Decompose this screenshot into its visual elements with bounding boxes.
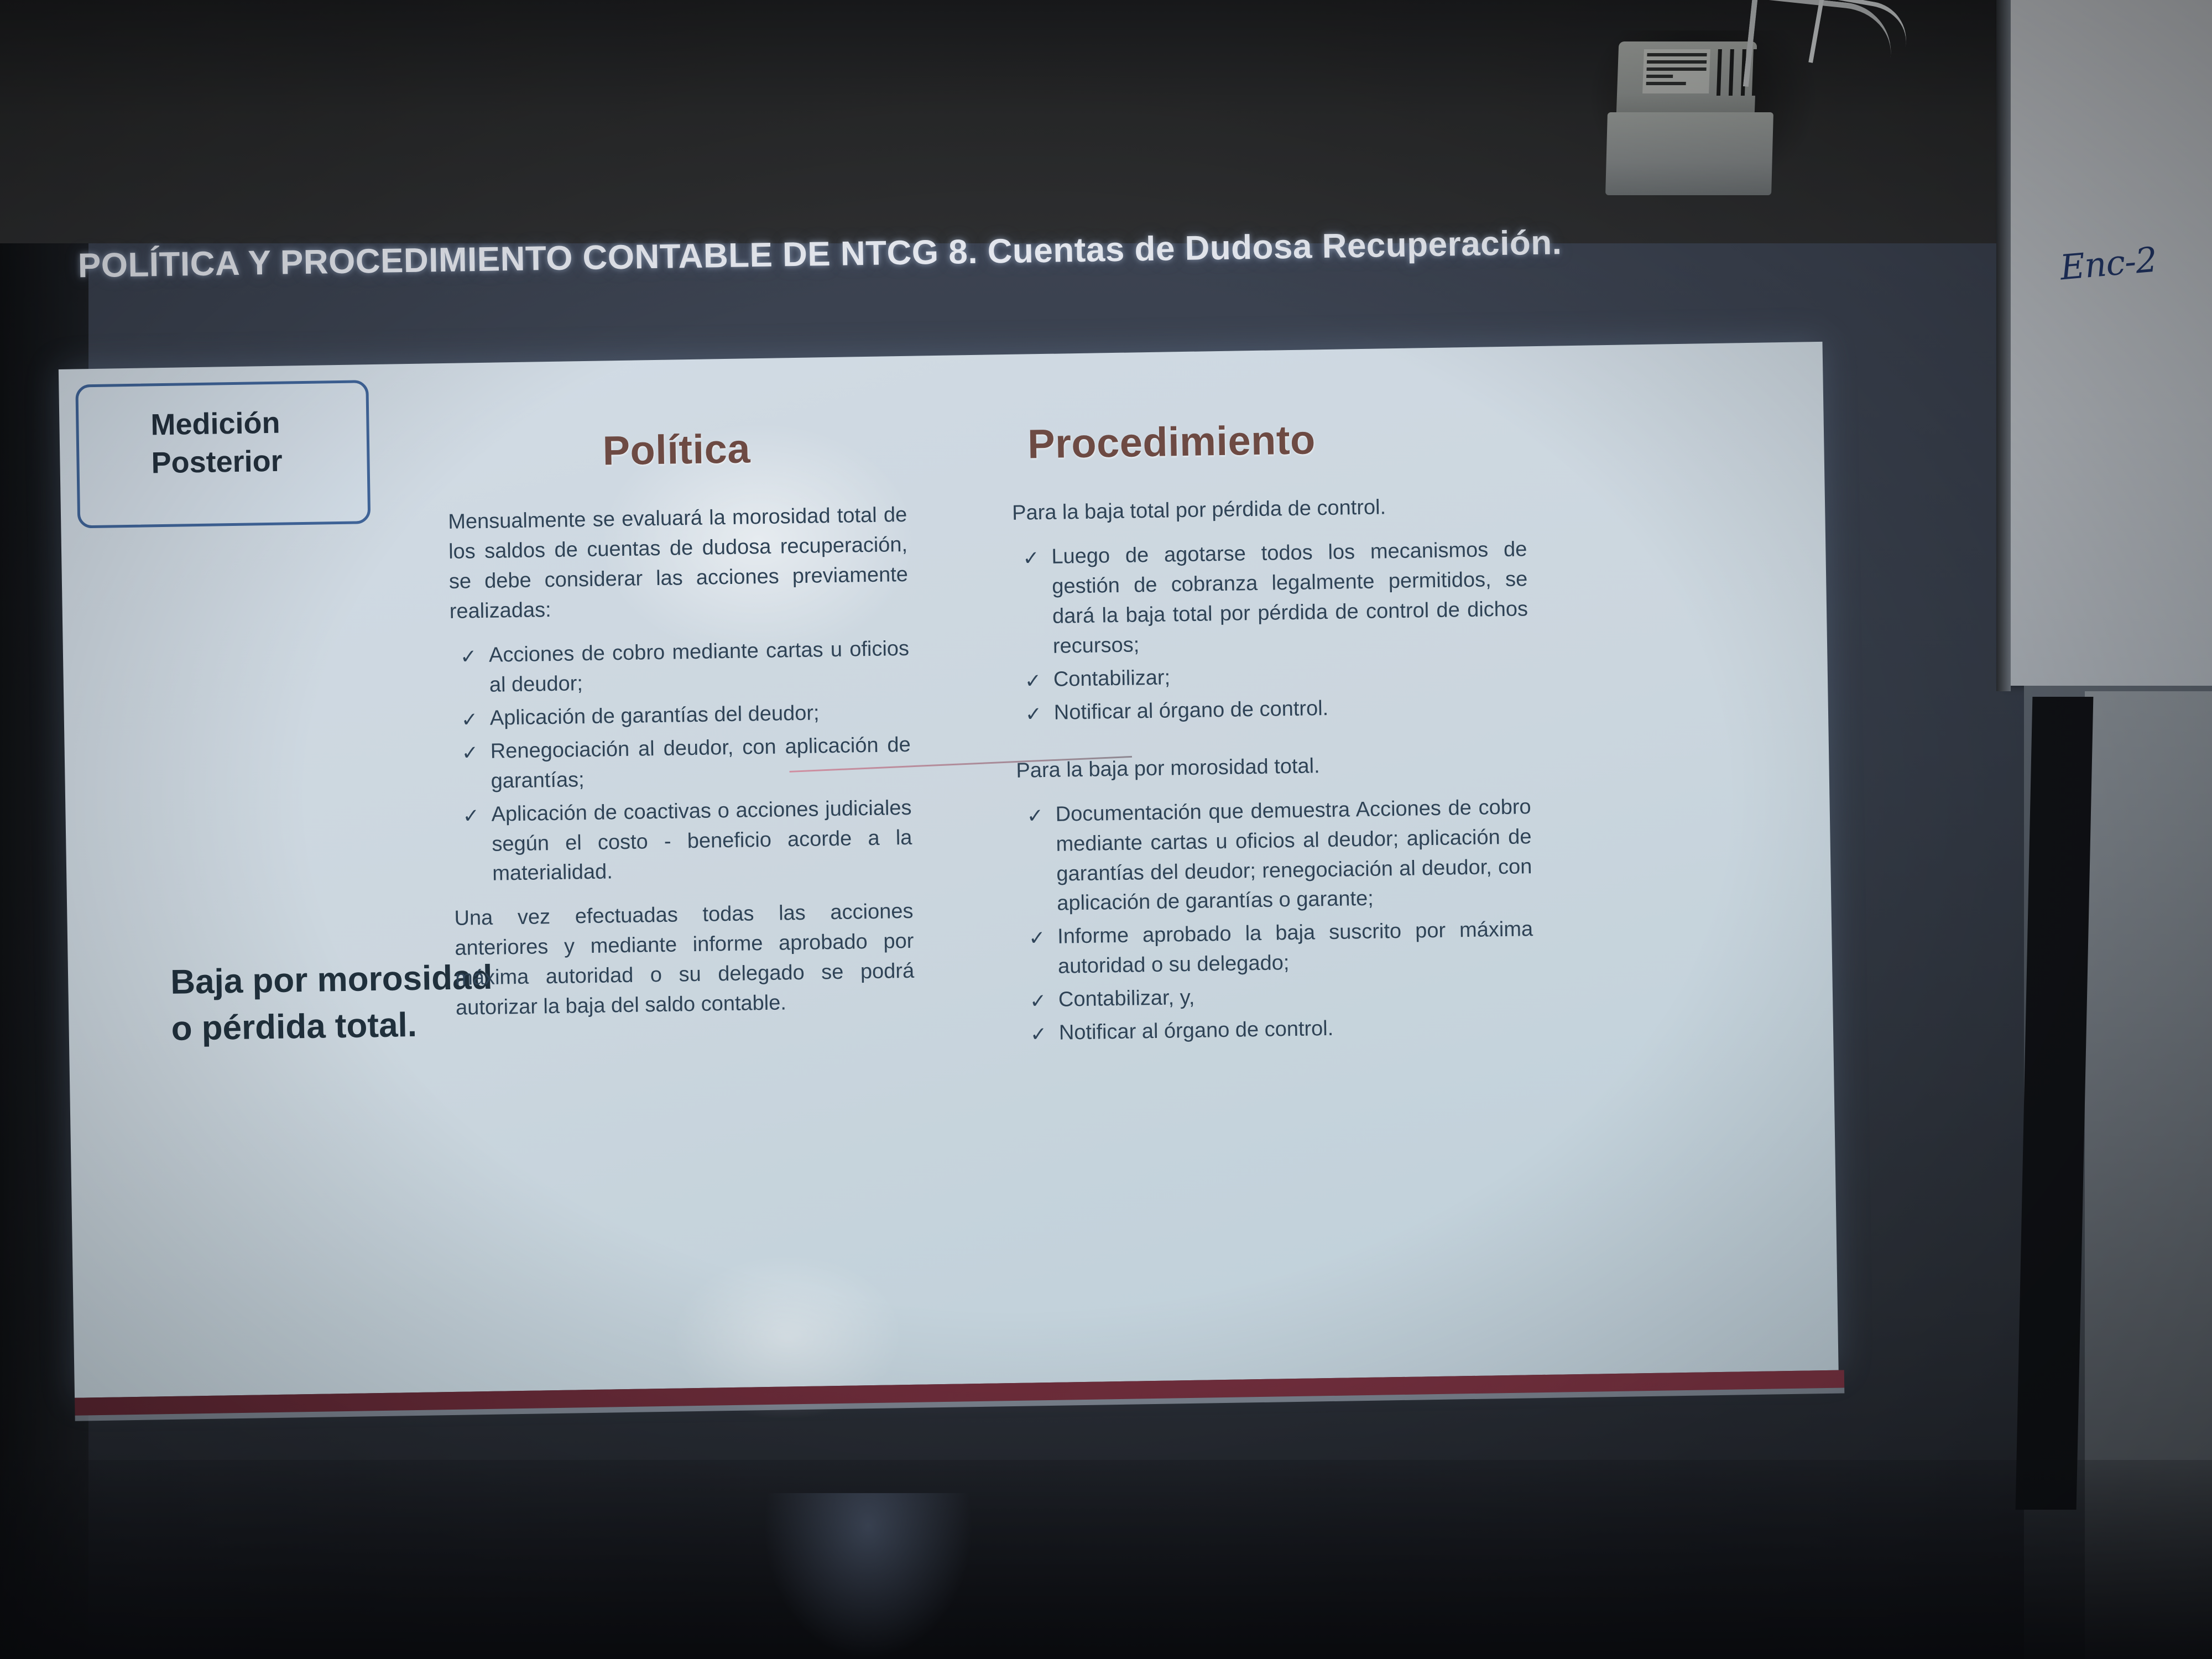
list-item-text: Luego de agotarse todos los mecanismos d… xyxy=(1051,538,1528,658)
politica-bullet-list: ✓ Acciones de cobro mediante cartas u of… xyxy=(450,634,913,890)
check-icon: ✓ xyxy=(1030,987,1047,1015)
check-icon: ✓ xyxy=(1025,666,1042,695)
medicion-posterior-line1: Medición xyxy=(150,403,367,444)
list-item-text: Aplicación de garantías del deudor; xyxy=(490,701,820,729)
procedimiento-group2-intro: Para la baja por morosidad total. xyxy=(1016,748,1531,786)
list-item-text: Documentación que demuestra Acciones de … xyxy=(1055,795,1532,915)
procedimiento-group2-list: ✓ Documentación que demuestra Acciones d… xyxy=(1016,792,1535,1049)
list-item: ✓ Contabilizar, y, xyxy=(1058,978,1535,1015)
whiteboard-edge xyxy=(1996,0,2011,691)
medicion-posterior-box: Medición Posterior xyxy=(75,380,371,528)
medicion-posterior-line2: Posterior xyxy=(151,441,367,482)
list-item: ✓ Notificar al órgano de control. xyxy=(1059,1011,1535,1048)
list-item-text: Aplicación de coactivas o acciones judic… xyxy=(491,796,912,885)
procedimiento-group1-intro: Para la baja total por pérdida de contro… xyxy=(1012,491,1527,529)
list-item: ✓ Luego de agotarse todos los mecanismos… xyxy=(1051,535,1528,661)
check-icon: ✓ xyxy=(1025,700,1042,728)
list-item-text: Notificar al órgano de control. xyxy=(1054,697,1329,724)
projector-top-housing xyxy=(1616,41,1757,116)
list-item: ✓ Contabilizar; xyxy=(1053,658,1529,695)
procedimiento-group1-list: ✓ Luego de agotarse todos los mecanismos… xyxy=(1013,535,1530,728)
projector-body xyxy=(1605,112,1773,195)
politica-closing: Una vez efectuadas todas las acciones an… xyxy=(454,897,915,1024)
list-item: ✓ Documentación que demuestra Acciones d… xyxy=(1055,792,1532,919)
list-item-text: Informe aprobado la baja suscrito por má… xyxy=(1057,918,1533,978)
check-icon: ✓ xyxy=(1029,924,1046,952)
check-icon: ✓ xyxy=(1030,1020,1047,1048)
list-item-text: Contabilizar, y, xyxy=(1058,986,1195,1011)
list-item: ✓ Renegociación al deudor, con aplicació… xyxy=(490,731,911,797)
whiteboard xyxy=(2007,0,2212,686)
check-icon: ✓ xyxy=(461,738,478,767)
list-item: ✓ Acciones de cobro mediante cartas u of… xyxy=(489,634,910,701)
check-icon: ✓ xyxy=(460,642,477,671)
list-item-text: Renegociación al deudor, con aplicación … xyxy=(490,733,911,793)
list-item: ✓ Aplicación de coactivas o acciones jud… xyxy=(491,793,912,889)
list-item: ✓ Notificar al órgano de control. xyxy=(1053,691,1530,728)
warning-triangle-icon xyxy=(1642,49,1710,93)
list-item-text: Notificar al órgano de control. xyxy=(1059,1017,1334,1045)
list-item-text: Contabilizar; xyxy=(1053,666,1171,691)
photo-of-projected-slide: Enc-2 POLÍTICA Y PROCEDIMIENTO CONTABLE … xyxy=(0,0,2212,1659)
column-procedimiento: Procedimiento Para la baja total por pér… xyxy=(1011,413,1535,1063)
column-politica: Política Mensualmente se evaluará la mor… xyxy=(447,422,915,1038)
whiteboard-handwriting: Enc-2 xyxy=(2058,239,2158,288)
column-politica-heading: Política xyxy=(447,422,906,477)
projected-slide: POLÍTICA Y PROCEDIMIENTO CONTABLE DE NTC… xyxy=(56,218,1895,1501)
list-item: ✓ Aplicación de garantías del deudor; xyxy=(489,697,910,734)
check-icon: ✓ xyxy=(462,801,479,830)
check-icon: ✓ xyxy=(461,705,478,734)
list-item: ✓ Informe aprobado la baja suscrito por … xyxy=(1057,915,1534,982)
politica-intro: Mensualmente se evaluará la morosidad to… xyxy=(448,500,909,627)
check-icon: ✓ xyxy=(1022,544,1040,572)
check-icon: ✓ xyxy=(1026,801,1044,830)
column-procedimiento-heading: Procedimiento xyxy=(1011,413,1526,468)
slide-content-area: Medición Posterior Baja por morosidad o … xyxy=(59,342,1839,1398)
door-frame xyxy=(2085,691,2212,1659)
list-item-text: Acciones de cobro mediante cartas u ofic… xyxy=(489,637,910,697)
